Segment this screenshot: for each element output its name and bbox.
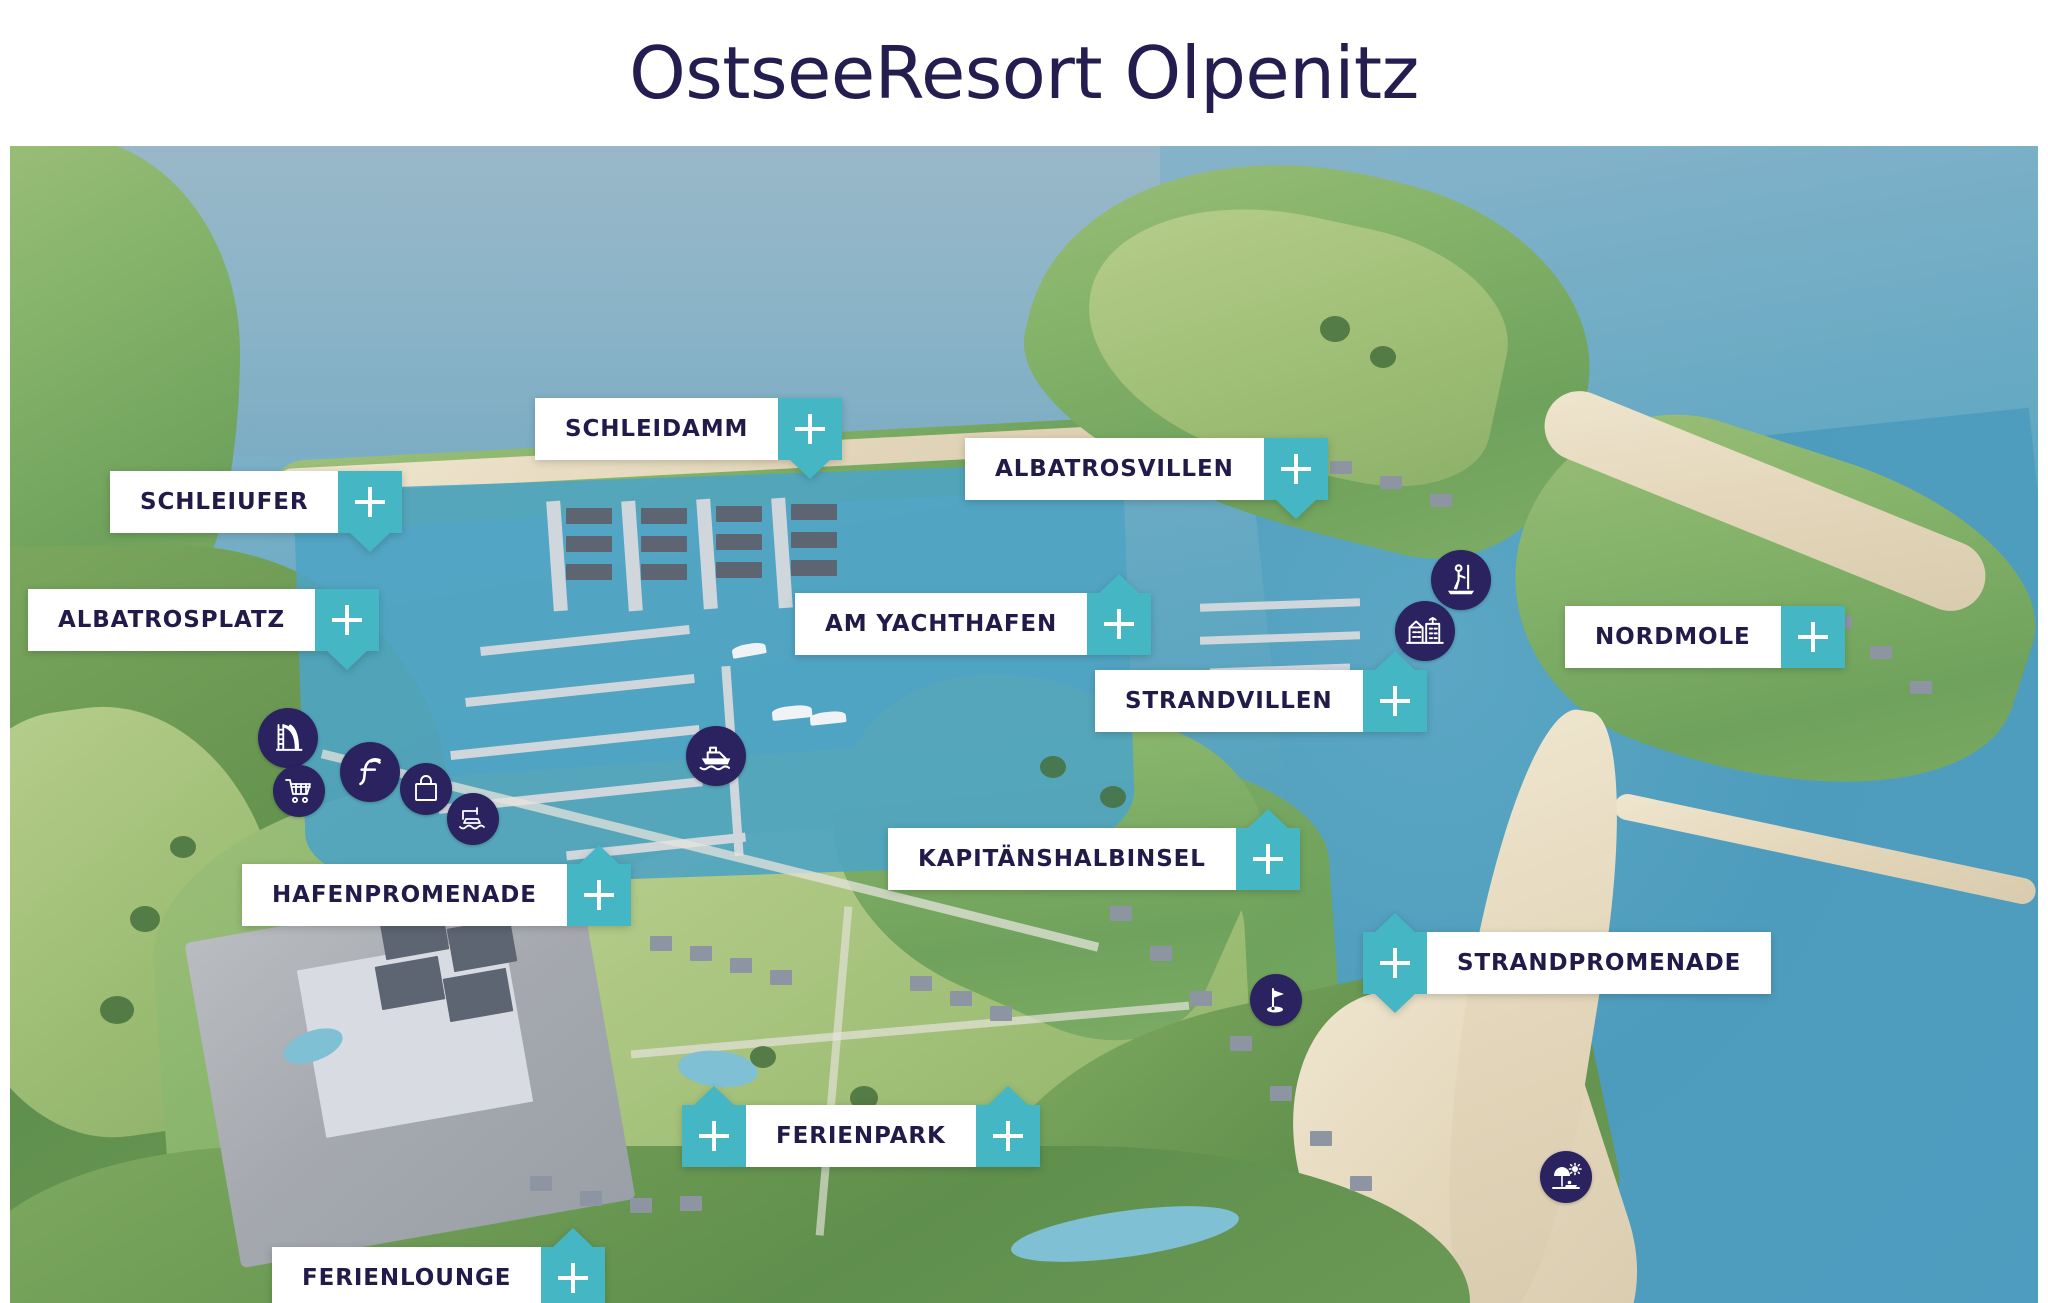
holiday-home [1380,476,1402,489]
script-f-icon [351,753,389,791]
floating-house [641,508,687,524]
tree [1040,756,1066,778]
hotspot-label-strandvillen: STRANDVILLEN [1095,670,1363,732]
expand-button-albatrosvillen[interactable] [1264,438,1328,500]
page-root: OstseeResort Olpenitz [0,0,2048,1303]
hotspot-hafenpromenade[interactable]: HAFENPROMENADE [242,864,631,926]
plus-icon [699,1121,729,1151]
expand-button-strandpromenade[interactable] [1363,932,1427,994]
tree [1100,786,1126,808]
holiday-home [1110,906,1132,921]
floating-house [566,564,612,580]
beach-umbrella-icon [1550,1161,1582,1193]
floating-house [716,534,762,550]
poi-restaurant-f[interactable] [340,742,400,802]
poi-shopping-cart[interactable] [273,765,325,817]
poi-waterslide[interactable] [258,708,318,768]
hotspot-label-am-yachthafen: AM YACHTHAFEN [795,593,1087,655]
hotspot-ferienlounge[interactable]: FERIENLOUNGE [272,1247,605,1303]
tree [170,836,196,858]
hotspot-label-ferienlounge: FERIENLOUNGE [272,1247,541,1303]
hotspot-label-albatrosvillen: ALBATROSVILLEN [965,438,1264,500]
expand-button-ferienlounge[interactable] [541,1247,605,1303]
expand-button-schleiufer[interactable] [338,471,402,533]
holiday-home [580,1191,602,1206]
hotspot-label-schleiufer: SCHLEIUFER [110,471,338,533]
plus-icon [1380,686,1410,716]
hotspot-schleiufer[interactable]: SCHLEIUFER [110,471,402,533]
holiday-home [1330,461,1352,474]
expand-button-ferienpark[interactable] [976,1105,1040,1167]
poi-golf[interactable] [1250,974,1302,1026]
tree [750,1046,776,1068]
holiday-home [1270,1086,1292,1101]
holiday-home [950,991,972,1006]
hotspot-albatrosplatz[interactable]: ALBATROSPLATZ [28,589,379,651]
holiday-home [680,1196,702,1211]
holiday-home [990,1006,1012,1021]
hotspot-ferienpark[interactable]: FERIENPARK [682,1105,1040,1167]
hotspot-nordmole[interactable]: NORDMOLE [1565,606,1845,668]
motorboat-icon [697,737,735,775]
expand-button-nordmole[interactable] [1781,606,1845,668]
holiday-home [910,976,932,991]
hotspot-label-strandpromenade: STRANDPROMENADE [1427,932,1771,994]
hotspot-label-schleidamm: SCHLEIDAMM [535,398,778,460]
plus-icon [993,1121,1023,1151]
floating-house [641,564,687,580]
poi-motorboat[interactable] [686,726,746,786]
hotspot-label-hafenpromenade: HAFENPROMENADE [242,864,567,926]
plus-icon [1380,948,1410,978]
floating-house [716,506,762,522]
golf-flag-icon [1260,984,1292,1016]
expand-button-schleidamm[interactable] [778,398,842,460]
hotspot-label-albatrosplatz: ALBATROSPLATZ [28,589,315,651]
hotspot-label-ferienpark: FERIENPARK [746,1105,976,1167]
hotspot-label-nordmole: NORDMOLE [1565,606,1781,668]
resort-map: SCHLEIDAMMSCHLEIUFERALBATROSVILLENALBATR… [10,146,2038,1303]
holiday-home [1310,1131,1332,1146]
plus-icon [1253,844,1283,874]
hotspot-strandvillen[interactable]: STRANDVILLEN [1095,670,1427,732]
holiday-home [1230,1036,1252,1051]
plus-icon [584,880,614,910]
expand-button-kapitaenshalbinsel[interactable] [1236,828,1300,890]
paddleboard-icon [1442,561,1480,599]
floating-house [791,504,837,520]
shopping-bag-icon [410,773,442,805]
poi-boat-ramp[interactable] [447,793,499,845]
holiday-home [1910,681,1932,694]
floating-house [566,508,612,524]
floating-house [641,536,687,552]
resort-building-icon [1406,612,1444,650]
floating-house [566,536,612,552]
floating-house [791,532,837,548]
poi-paddleboard[interactable] [1431,550,1491,610]
tree [130,906,160,932]
plus-icon [1104,609,1134,639]
holiday-home [730,958,752,973]
hotspot-strandpromenade[interactable]: STRANDPROMENADE [1363,932,1771,994]
floating-house [716,562,762,578]
pointer-up-icon [1374,913,1416,933]
tree [1370,346,1396,368]
holiday-home [1430,494,1452,507]
holiday-home [1870,646,1892,659]
boat-ramp-icon [457,803,489,835]
expand-button-am-yachthafen[interactable] [1087,593,1151,655]
poi-beach[interactable] [1540,1151,1592,1203]
holiday-home [1190,991,1212,1006]
holiday-home [690,946,712,961]
hotspot-am-yachthafen[interactable]: AM YACHTHAFEN [795,593,1151,655]
holiday-home [650,936,672,951]
harbour-basin [293,462,1136,891]
plus-icon [1798,622,1828,652]
pointer-down-icon [1374,993,1416,1013]
water-slide-icon [269,719,307,757]
plus-icon [795,414,825,444]
poi-resort-building[interactable] [1395,601,1455,661]
hotspot-albatrosvillen[interactable]: ALBATROSVILLEN [965,438,1328,500]
expand-button-albatrosplatz[interactable] [315,589,379,651]
poi-shopping-bag[interactable] [400,763,452,815]
hotspot-label-kapitaenshalbinsel: KAPITÄNSHALBINSEL [888,828,1236,890]
plus-icon [1281,454,1311,484]
holiday-home [630,1198,652,1213]
expand-button-strandvillen[interactable] [1363,670,1427,732]
holiday-home [770,970,792,985]
holiday-home [1350,1176,1372,1191]
expand-button-ferienpark[interactable] [682,1105,746,1167]
floating-house [791,560,837,576]
hotspot-schleidamm[interactable]: SCHLEIDAMM [535,398,842,460]
shopping-cart-icon [283,775,315,807]
holiday-home [530,1176,552,1191]
plus-icon [332,605,362,635]
page-title: OstseeResort Olpenitz [629,37,1419,109]
expand-button-hafenpromenade[interactable] [567,864,631,926]
tree [100,996,134,1024]
holiday-home [1150,946,1172,961]
plus-icon [355,487,385,517]
tree [1320,316,1350,342]
hotspot-kapitaenshalbinsel[interactable]: KAPITÄNSHALBINSEL [888,828,1300,890]
plus-icon [558,1263,588,1293]
title-bar: OstseeResort Olpenitz [0,0,2048,146]
